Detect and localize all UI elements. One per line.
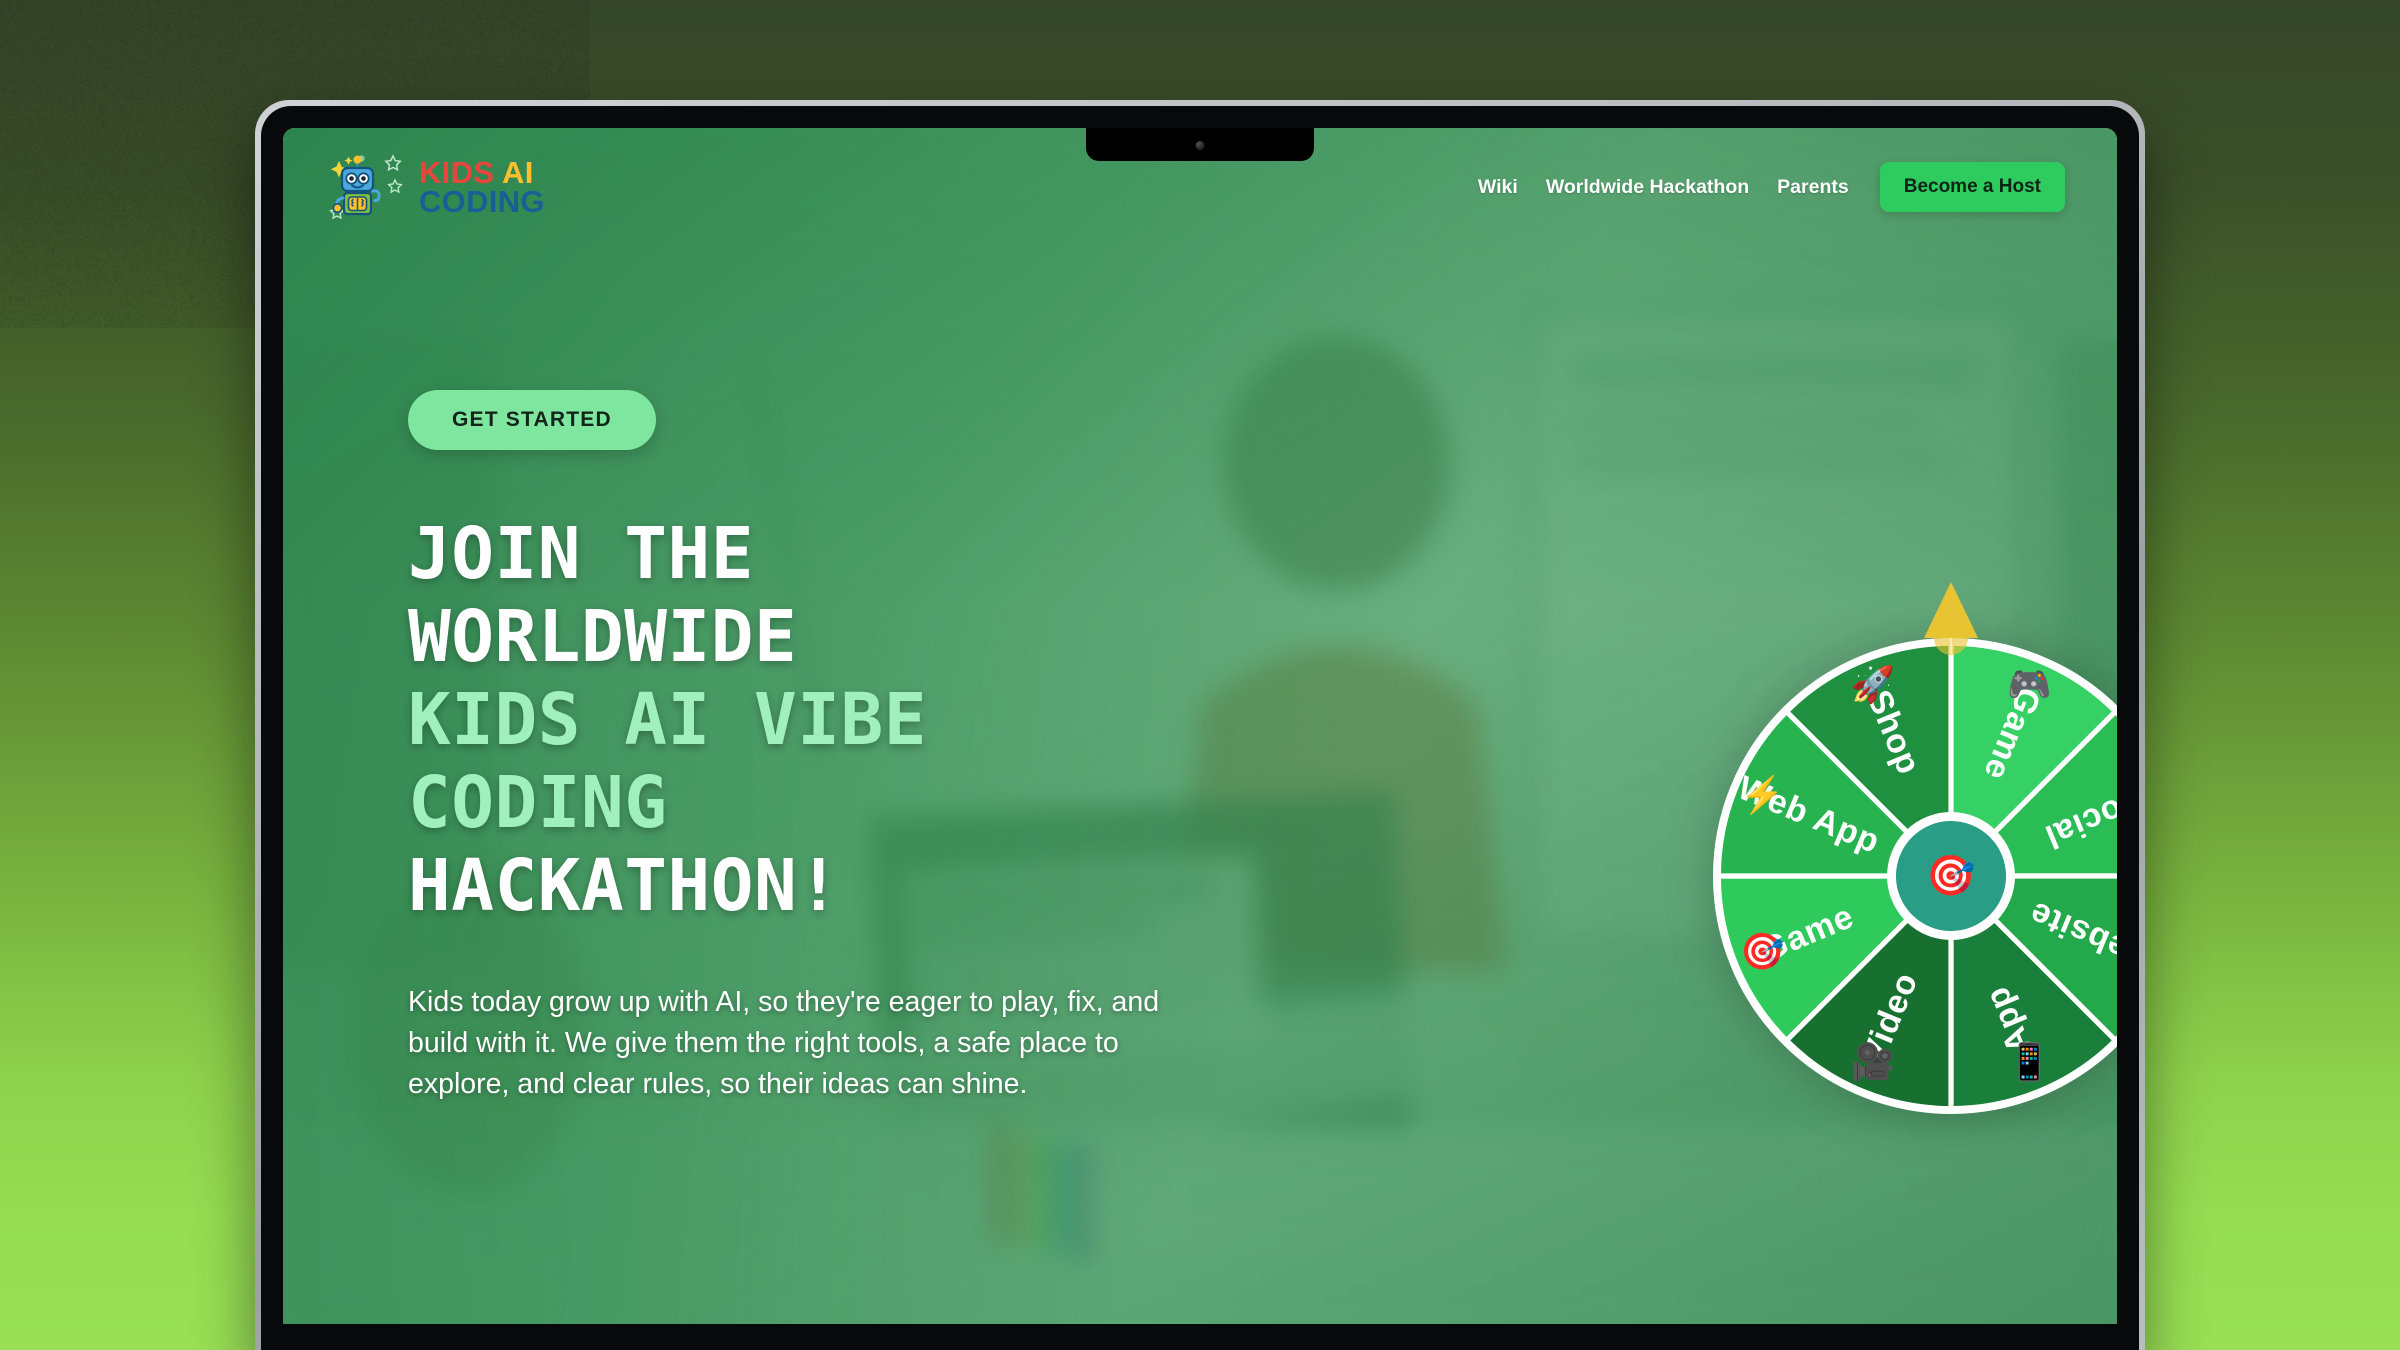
hero-paragraph: Kids today grow up with AI, so they're e… [408, 982, 1208, 1104]
wheel-segment-icon-3: 📱 [2007, 1041, 2051, 1082]
laptop-device: KIDS AI CODING Wiki Worldwide Hackathon … [255, 100, 2145, 1350]
laptop-frame: KIDS AI CODING Wiki Worldwide Hackathon … [255, 100, 2145, 1350]
wheel-segment-icon-5: 🎯 [1740, 932, 1784, 972]
webcam-icon [1196, 141, 1205, 150]
project-type-spinner[interactable]: Game🎮Social💻Website🌐App📱Video🎥Game🎯Web A… [1691, 580, 2117, 1140]
headline-line-5: HACKATHON! [408, 844, 1268, 927]
hero-content: GET STARTED JOIN THE WORLDWIDE KIDS AI V… [408, 390, 1268, 1105]
site-logo[interactable]: KIDS AI CODING [327, 148, 545, 226]
robot-mascot-icon [327, 148, 405, 226]
wheel-segment-icon-4: 🎥 [1851, 1041, 1895, 1082]
wheel-pointer-icon [1918, 576, 1984, 668]
laptop-screen: KIDS AI CODING Wiki Worldwide Hackathon … [283, 128, 2117, 1324]
headline-line-3: KIDS AI VIBE [408, 678, 1268, 761]
nav-link-parents[interactable]: Parents [1763, 176, 1863, 199]
hero-headline: JOIN THE WORLDWIDE KIDS AI VIBE CODING H… [408, 512, 1268, 927]
headline-line-2: WORLDWIDE [408, 595, 1268, 678]
primary-navigation: Wiki Worldwide Hackathon Parents Become … [1464, 162, 2065, 212]
wheel-segment-icon-7: 🚀 [1851, 664, 1895, 705]
nav-link-worldwide-hackathon[interactable]: Worldwide Hackathon [1532, 176, 1763, 199]
headline-line-4: CODING [408, 761, 1268, 844]
screen-notch [1086, 128, 1314, 161]
get-started-button[interactable]: GET STARTED [408, 390, 656, 450]
wheel-segment-icon-0: 🎮 [2007, 665, 2051, 705]
wheel-segment-icon-6: ⚡ [1740, 774, 1784, 816]
laptop-bezel: KIDS AI CODING Wiki Worldwide Hackathon … [261, 106, 2139, 1350]
logo-wordmark: KIDS AI CODING [419, 158, 545, 217]
nav-link-wiki[interactable]: Wiki [1464, 176, 1532, 199]
wheel-disc[interactable]: Game🎮Social💻Website🌐App📱Video🎥Game🎯Web A… [1713, 638, 2117, 1114]
logo-text-coding: CODING [419, 184, 545, 219]
dart-target-icon: 🎯 [1926, 854, 1975, 898]
headline-line-1: JOIN THE [408, 512, 1268, 595]
wheel-svg[interactable]: Game🎮Social💻Website🌐App📱Video🎥Game🎯Web A… [1713, 638, 2117, 1114]
become-a-host-button[interactable]: Become a Host [1880, 162, 2065, 212]
